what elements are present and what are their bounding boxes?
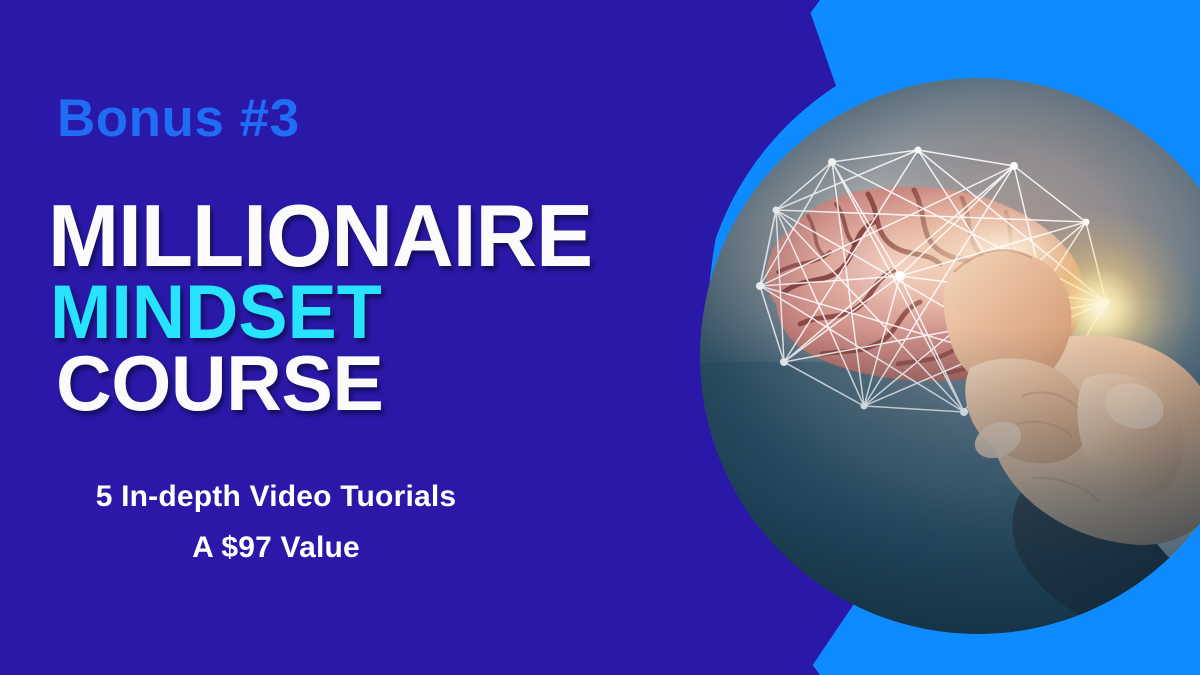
subheadline-line-1: 5 In-depth Video Tuorials <box>0 480 552 514</box>
text-block: Bonus #3 MILLIONAIRE MINDSET COURSE 5 In… <box>0 0 660 675</box>
circular-photo <box>700 78 1200 634</box>
photo-inner <box>700 78 1200 634</box>
subheadline-line-2: A $97 Value <box>0 531 552 565</box>
headline-line-millionaire: MILLIONAIRE <box>48 196 592 277</box>
eyebrow-bonus-label: Bonus #3 <box>57 92 300 145</box>
headline-line-course: COURSE <box>56 348 383 420</box>
photo-vignette <box>700 78 1200 634</box>
headline-line-mindset: MINDSET <box>50 278 382 348</box>
promo-banner: Bonus #3 MILLIONAIRE MINDSET COURSE 5 In… <box>0 0 1200 675</box>
